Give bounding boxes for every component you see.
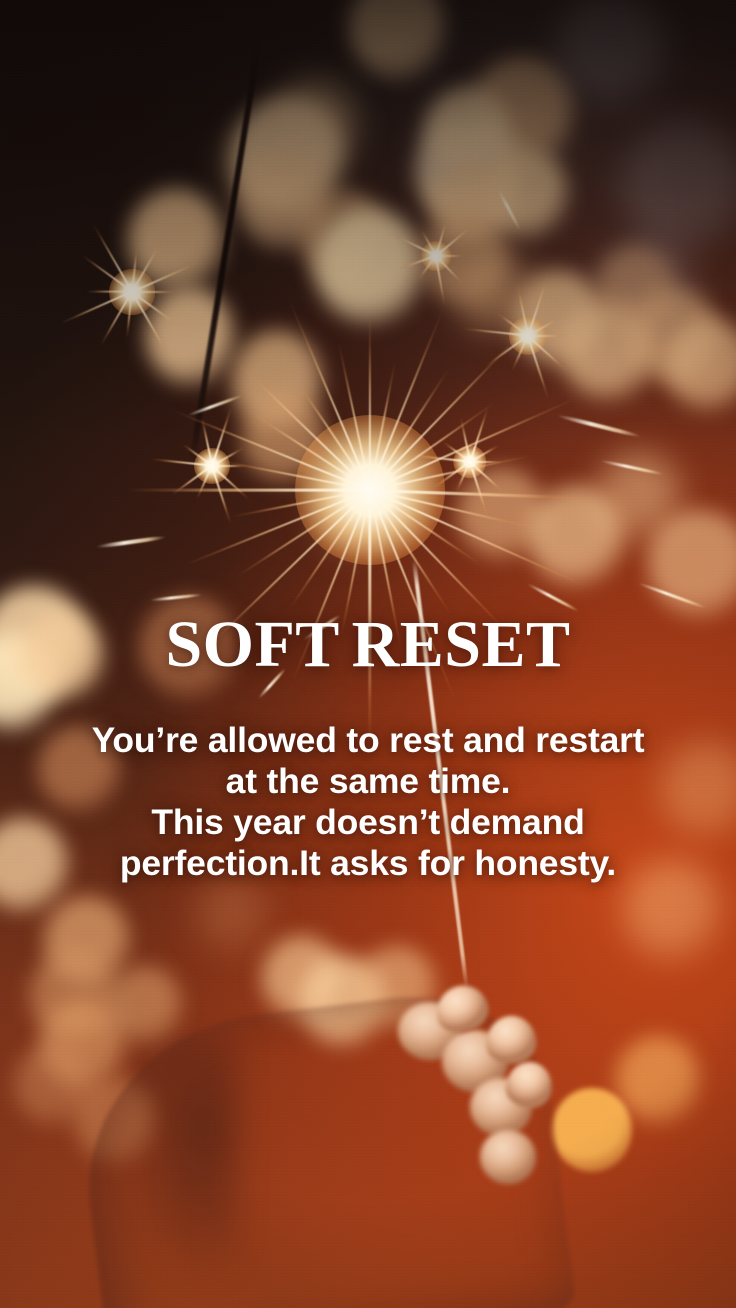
spark-ember: [187, 394, 243, 417]
spark-core: [109, 269, 155, 315]
spark-ember: [497, 188, 521, 230]
quote-line-3: This year doesn’t demand: [0, 802, 736, 843]
spark-ray: [211, 465, 248, 499]
page-title: SOFT RESET: [0, 612, 736, 678]
spark-ember: [96, 535, 166, 549]
knit-sweater-sleeve: [70, 981, 577, 1308]
bokeh-light: [560, 300, 656, 400]
spark-ray: [131, 246, 137, 292]
spark-ray: [131, 292, 172, 361]
bokeh-light: [456, 252, 534, 334]
spark-ray: [418, 256, 437, 281]
spark-ray: [435, 217, 448, 256]
sparkler-ray: [126, 489, 370, 492]
spark-ray: [516, 285, 528, 336]
caption-block: SOFT RESET You’re allowed to rest and re…: [0, 612, 736, 884]
bokeh-light: [44, 896, 130, 986]
spark-ember: [150, 593, 202, 601]
bokeh-light: [349, 0, 445, 80]
spark-ray: [126, 292, 132, 338]
bokeh-light: [664, 318, 736, 410]
bokeh-light: [299, 188, 385, 284]
spark-ray: [420, 230, 436, 257]
spark-ray: [100, 292, 132, 347]
quote-line-4: perfection.It asks for honesty.: [0, 843, 736, 884]
bokeh-light: [616, 1036, 700, 1124]
bokeh-light: [30, 950, 118, 1042]
bokeh-light: [470, 56, 574, 168]
bokeh-light: [628, 288, 720, 384]
spark-ray: [527, 273, 549, 336]
bokeh-light: [238, 152, 328, 250]
bokeh-light: [420, 112, 498, 194]
spark-ray: [469, 462, 488, 517]
spark-ray: [528, 316, 562, 337]
spark-ray: [435, 223, 475, 257]
spark-ember: [638, 582, 707, 609]
bokeh-light: [108, 966, 182, 1044]
spark-ray: [81, 255, 132, 293]
quote-line-1: You’re allowed to rest and restart: [0, 720, 736, 761]
bokeh-light: [196, 876, 268, 952]
spark-ray: [398, 255, 436, 270]
bokeh-light: [315, 208, 423, 324]
spark-core: [194, 448, 230, 484]
sparkler-quote-poster: SOFT RESET You’re allowed to rest and re…: [0, 0, 736, 1308]
spark-ember: [557, 414, 641, 439]
spark-ray: [86, 291, 132, 293]
spark-ray: [131, 238, 163, 293]
bokeh-light: [596, 452, 682, 542]
bokeh-light: [420, 212, 510, 306]
bokeh-light: [512, 270, 604, 366]
bokeh-light: [596, 246, 676, 330]
bokeh-light: [425, 86, 511, 176]
spark-ray: [527, 335, 567, 371]
bokeh-light: [272, 78, 358, 174]
bokeh-light: [432, 160, 512, 246]
quote-body: You’re allowed to rest and restart at th…: [0, 678, 736, 884]
spark-ray: [211, 407, 232, 466]
bokeh-light: [146, 286, 234, 386]
bokeh-light: [648, 510, 736, 618]
spark-ray: [470, 445, 500, 463]
spark-ray: [435, 256, 445, 306]
bokeh-light: [528, 486, 624, 586]
spark-ray: [92, 224, 133, 293]
spark-ray: [132, 259, 204, 292]
quote-line-2: at the same time.: [0, 761, 736, 802]
spark-ray: [132, 291, 183, 329]
spark-ray: [469, 407, 488, 462]
spark-ray: [132, 291, 178, 293]
spark-ray: [496, 313, 528, 337]
spark-ray: [527, 336, 549, 399]
spark-ray: [211, 466, 232, 525]
spark-ray: [436, 255, 466, 257]
sparkler-ray: [369, 338, 517, 491]
sparkler-wire-burnt: [189, 40, 262, 466]
spark-ray: [463, 328, 529, 336]
sparkler-ray: [369, 314, 371, 490]
bokeh-light: [128, 188, 224, 292]
spark-ray: [435, 255, 464, 285]
bokeh-light: [417, 118, 521, 228]
bokeh-light: [620, 120, 736, 250]
bokeh-light: [556, 0, 666, 106]
bokeh-light: [480, 146, 568, 238]
spark-ember: [600, 459, 663, 475]
spark-ray: [60, 291, 132, 324]
spark-ray: [456, 462, 471, 493]
spark-core: [509, 317, 547, 355]
spark-ray: [528, 335, 566, 337]
spark-ray: [390, 233, 436, 257]
bokeh-light: [596, 236, 696, 342]
spark-core: [421, 241, 451, 271]
spark-ray: [197, 466, 213, 499]
spark-ray: [151, 459, 212, 467]
bokeh-light: [552, 1088, 632, 1172]
